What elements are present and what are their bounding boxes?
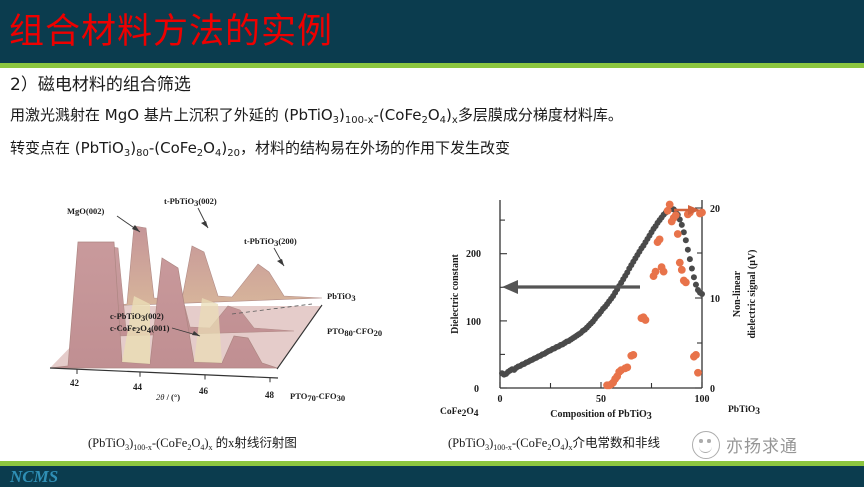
- depth1-main: PTO: [327, 326, 345, 336]
- ann-cpto-main: c-PbTiO: [110, 311, 141, 321]
- xaxis-ticklabel-2: 46: [199, 386, 209, 396]
- wechat-watermark: 亦扬求通: [690, 428, 850, 462]
- capr-p1: (PbTiO: [448, 436, 485, 450]
- left-ytick-200: 200: [466, 249, 481, 260]
- depth-label-pto80-cfo20: PTO80-CFO20: [327, 326, 382, 338]
- xaxis-title-sub: 3: [647, 411, 652, 421]
- data-point: [683, 237, 689, 243]
- annotation-t-pto-002: t-PbTiO3(002): [164, 196, 217, 208]
- xaxis-line: [50, 368, 278, 378]
- data-point: [699, 291, 705, 297]
- wechat-circle-face-icon: [692, 431, 720, 459]
- capl-p1: (PbTiO: [88, 436, 125, 450]
- p2-sub2: 80: [136, 148, 149, 159]
- p1-part3: -(CoFe: [374, 106, 422, 124]
- ann-tpto200-tail: (200): [278, 236, 297, 246]
- left-axis-title: Dielectric constant: [450, 253, 461, 333]
- slide-root: 组合材料方法的实例 2）磁电材料的组合筛选 用激光溅射在 MgO 基片上沉积了外…: [0, 0, 864, 487]
- figure-dielectric-chart: 0 100 200 Dielectric constant 0 10 20 No…: [440, 186, 840, 421]
- data-point: [656, 235, 664, 243]
- caption-right: (PbTiO3)100-x-(CoFe2O4)x介电常数和非线: [448, 432, 660, 452]
- x-end-right-label: PbTiO3: [728, 405, 760, 417]
- data-point: [694, 369, 702, 377]
- data-point: [681, 229, 687, 235]
- p2-part1: 转变点在 (PbTiO: [10, 139, 124, 157]
- xaxis-title-rest: / (°): [164, 392, 180, 402]
- capr-s2: 100-x: [493, 443, 512, 452]
- depth2-tail: -CFO: [316, 391, 337, 401]
- ann-tpto002-tail: (002): [198, 196, 217, 206]
- p2-part4: O: [203, 139, 215, 157]
- data-point: [642, 316, 650, 324]
- capr-p4: O: [551, 436, 560, 450]
- data-point: [687, 256, 693, 262]
- depth2-main: PTO: [290, 391, 308, 401]
- xendleft-main: CoFe: [440, 407, 462, 417]
- section-heading: 2）磁电材料的组合筛选: [10, 72, 860, 98]
- x-axis-title: Composition of PbTiO3: [550, 409, 652, 421]
- ann-tpto002-main: t-PbTiO: [164, 196, 194, 206]
- xaxis-title: 2θ / (°): [156, 392, 180, 402]
- right-ytick-0: 0: [710, 384, 715, 395]
- series-dielectric-constant-points: [499, 206, 705, 378]
- annotation-mgo-002: MgO(002): [67, 206, 104, 216]
- capr-p3: -(CoFe: [512, 436, 547, 450]
- depth-label-pbtio3: PbTiO3: [327, 291, 356, 303]
- data-point: [666, 201, 674, 209]
- data-point: [682, 278, 690, 286]
- p1-part6: 多层膜成分梯度材料库。: [458, 106, 623, 124]
- xtick-100: 100: [695, 394, 710, 405]
- data-point: [629, 351, 637, 359]
- dielectric-chart-svg: 0 100 200 Dielectric constant 0 10 20 No…: [440, 186, 840, 421]
- caption-left: (PbTiO3)100-x-(CoFe2O4)x 的x射线衍射图: [88, 432, 297, 452]
- xrd-curve-front: [50, 242, 277, 368]
- left-axis-ticks: [500, 220, 507, 388]
- p2-sub5: 20: [227, 148, 240, 159]
- xendright-main: PbTiO: [728, 405, 755, 415]
- footer-logo: NCMS: [10, 466, 58, 487]
- depth1-tail: -CFO: [353, 326, 374, 336]
- data-point: [678, 266, 686, 274]
- paragraph-1: 用激光溅射在 MgO 基片上沉积了外延的 (PbTiO3)100-x-(CoFe…: [10, 103, 860, 133]
- figures-area: 42 44 46 48 2θ / (°) MgO(002) t-PbTiO3(0…: [0, 186, 864, 426]
- right-axis-title-line2: dielectric signal (μV): [747, 250, 758, 339]
- xtick-50: 50: [596, 394, 606, 405]
- p1-sub2: 100-x: [345, 115, 374, 126]
- data-point: [676, 259, 684, 267]
- xendleft-sub2: 4: [474, 409, 479, 419]
- data-point: [674, 230, 682, 238]
- depth2-sub2: 30: [337, 393, 346, 403]
- right-ytick-10: 10: [710, 294, 720, 305]
- ann-ccfo-main: c-CoFe: [110, 323, 136, 333]
- p2-part6: ，材料的结构易在外场的作用下发生改变: [240, 139, 510, 157]
- capl-s2: 100-x: [133, 443, 152, 452]
- bottom-axis-ticks: [500, 382, 702, 388]
- ann-cpto-tail: (002): [145, 311, 164, 321]
- xaxis-ticklabel-3: 48: [265, 390, 275, 400]
- paragraph-2: 转变点在 (PbTiO3)80-(CoFe2O4)20，材料的结构易在外场的作用…: [10, 136, 860, 166]
- depth1-sub: 80: [344, 328, 353, 338]
- data-point: [679, 222, 685, 228]
- data-point: [691, 274, 697, 280]
- x-end-left-label: CoFe2O4: [440, 407, 479, 419]
- depth0-main: PbTiO: [327, 291, 352, 301]
- xaxis-ticklabel-0: 42: [70, 378, 80, 388]
- figure-xrd-waterfall: 42 44 46 48 2θ / (°) MgO(002) t-PbTiO3(0…: [22, 186, 432, 416]
- depth-label-pto70-cfo30: PTO70-CFO30: [290, 391, 345, 403]
- body-text-block: 2）磁电材料的组合筛选 用激光溅射在 MgO 基片上沉积了外延的 (PbTiO3…: [10, 72, 860, 169]
- slide-footer-bar: [0, 466, 864, 487]
- data-point: [685, 247, 691, 253]
- annotation-tpto002-arrow-head: [201, 221, 208, 228]
- capl-p6: 的x射线衍射图: [213, 436, 297, 450]
- data-point: [672, 211, 680, 219]
- annotation-t-pto-200: t-PbTiO3(200): [244, 236, 297, 248]
- smile-arc: [699, 445, 712, 453]
- right-ytick-20: 20: [710, 204, 720, 215]
- xtick-0: 0: [498, 394, 503, 405]
- data-point: [692, 351, 700, 359]
- p1-part1: 用激光溅射在 MgO 基片上沉积了外延的 (PbTiO: [10, 106, 333, 124]
- depth2-sub: 70: [307, 393, 316, 403]
- p2-part3: -(CoFe: [149, 139, 197, 157]
- right-axis-ticks: [695, 208, 702, 388]
- left-ytick-100: 100: [466, 317, 481, 328]
- capl-p3: -(CoFe: [152, 436, 187, 450]
- annotation-tpto200-arrow-head: [277, 259, 284, 266]
- xaxis-title-symbol: 2θ: [156, 392, 164, 402]
- ann-tpto200-main: t-PbTiO: [244, 236, 274, 246]
- capr-p6: 介电常数和非线: [573, 436, 661, 450]
- ann-ccfo-tail: (001): [151, 323, 170, 333]
- xendleft-mid: O: [466, 407, 473, 417]
- xaxis-title-main: Composition of PbTiO: [550, 409, 647, 420]
- data-point: [689, 265, 695, 271]
- right-axis-title-line1: Non-linear: [732, 270, 743, 317]
- xrd-3d-svg: 42 44 46 48 2θ / (°) MgO(002) t-PbTiO3(0…: [22, 186, 432, 416]
- depth0-sub: 3: [351, 293, 355, 303]
- left-ytick-0: 0: [474, 384, 479, 395]
- page-title: 组合材料方法的实例: [9, 10, 333, 54]
- watermark-text: 亦扬求通: [726, 432, 798, 457]
- depth1-sub2: 20: [374, 328, 383, 338]
- data-point: [693, 282, 699, 288]
- xendright-sub: 3: [755, 407, 760, 417]
- capl-p4: O: [191, 436, 200, 450]
- data-point: [623, 364, 631, 372]
- p1-part4: O: [428, 106, 440, 124]
- xaxis-ticklabel-1: 44: [133, 382, 143, 392]
- header-accent-line: [0, 63, 864, 68]
- data-point: [660, 268, 668, 276]
